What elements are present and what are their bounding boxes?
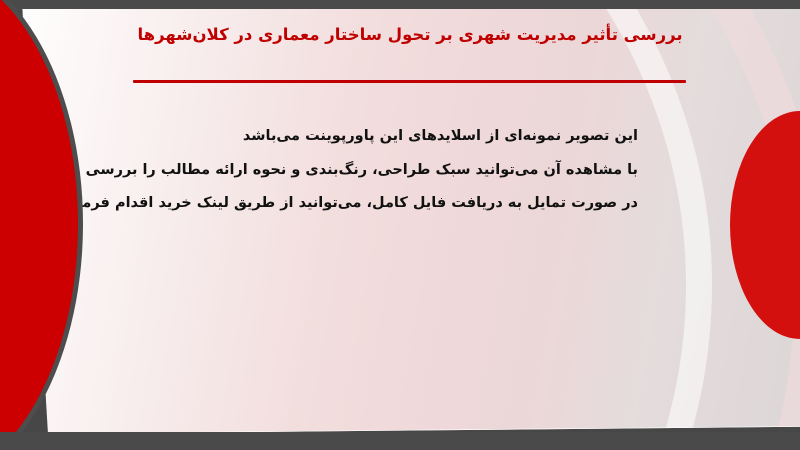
- slide-content-panel: بررسی تأثیر مدیریت شهری بر تحول ساختار م…: [0, 9, 800, 434]
- title-underline-rule: [133, 80, 686, 83]
- body-line-2: با مشاهده آن می‌توانید سبک طراحی، رنگ‌بن…: [40, 163, 638, 178]
- arc-band-1: [0, 9, 712, 434]
- body-line-3: در صورت تمایل به دریافت فایل کامل، می‌تو…: [40, 196, 638, 211]
- background-arc-texture: [0, 9, 800, 434]
- body-line-1: این تصویر نمونه‌ای از اسلایدهای این پاور…: [40, 129, 638, 144]
- arc-band-6: [0, 9, 800, 434]
- slide-frame-top-bar: [0, 0, 800, 10]
- slide-body: این تصویر نمونه‌ای از اسلایدهای این پاور…: [40, 129, 638, 211]
- slide-frame-bottom-bar: [0, 432, 800, 450]
- arc-band-4: [0, 9, 800, 434]
- arc-band-2: [0, 9, 800, 434]
- arc-band-3: [0, 9, 800, 434]
- slide-title: بررسی تأثیر مدیریت شهری بر تحول ساختار م…: [120, 23, 700, 46]
- slide-title-text: بررسی تأثیر مدیریت شهری بر تحول ساختار م…: [120, 23, 700, 46]
- arc-band-7: [0, 9, 800, 434]
- arc-band-5: [0, 9, 800, 434]
- presentation-slide: بررسی تأثیر مدیریت شهری بر تحول ساختار م…: [0, 0, 800, 450]
- right-red-ellipse-accent: [730, 111, 800, 339]
